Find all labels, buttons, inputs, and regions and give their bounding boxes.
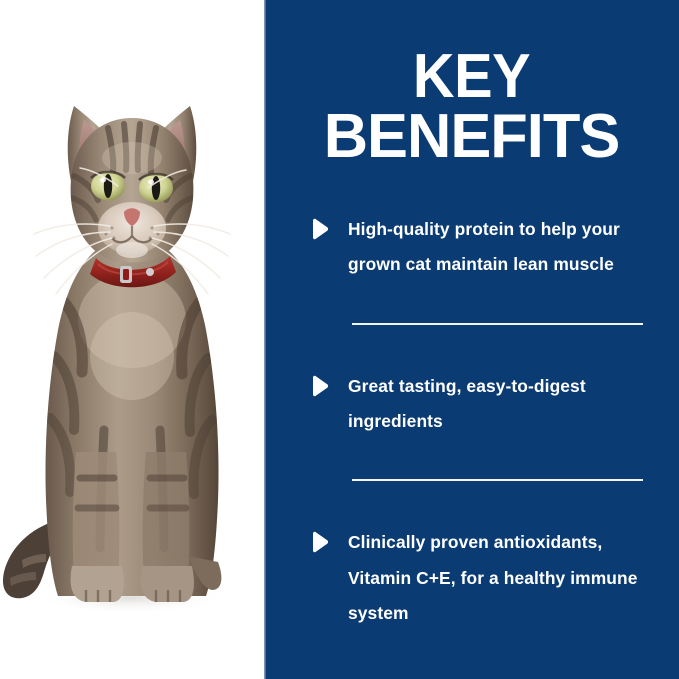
benefit-item-2: Great tasting, easy-to-digest ingredient… xyxy=(264,369,679,440)
play-triangle-icon xyxy=(310,375,330,397)
benefits-list: High-quality protein to help your grown … xyxy=(264,212,679,631)
benefit-text-2: Great tasting, easy-to-digest ingredient… xyxy=(348,369,648,440)
play-triangle-icon xyxy=(310,531,330,553)
play-triangle-icon xyxy=(310,218,330,240)
benefit-text-1: High-quality protein to help your grown … xyxy=(348,212,648,283)
spacer xyxy=(264,439,679,479)
cat-photo-panel xyxy=(0,0,264,679)
heading-line-key: KEY xyxy=(279,47,665,107)
benefit-item-3: Clinically proven antioxidants, Vitamin … xyxy=(264,525,679,631)
spacer xyxy=(264,481,679,525)
page-title: KEY BENEFITS xyxy=(264,47,679,166)
key-benefits-banner: KEY BENEFITS High-quality protein to hel… xyxy=(0,0,679,679)
benefit-text-3: Clinically proven antioxidants, Vitamin … xyxy=(348,525,648,631)
benefit-item-1: High-quality protein to help your grown … xyxy=(264,212,679,283)
spacer xyxy=(264,283,679,323)
heading-line-benefits: BENEFITS xyxy=(266,107,677,167)
spacer xyxy=(264,325,679,369)
cat-photo xyxy=(0,0,264,679)
